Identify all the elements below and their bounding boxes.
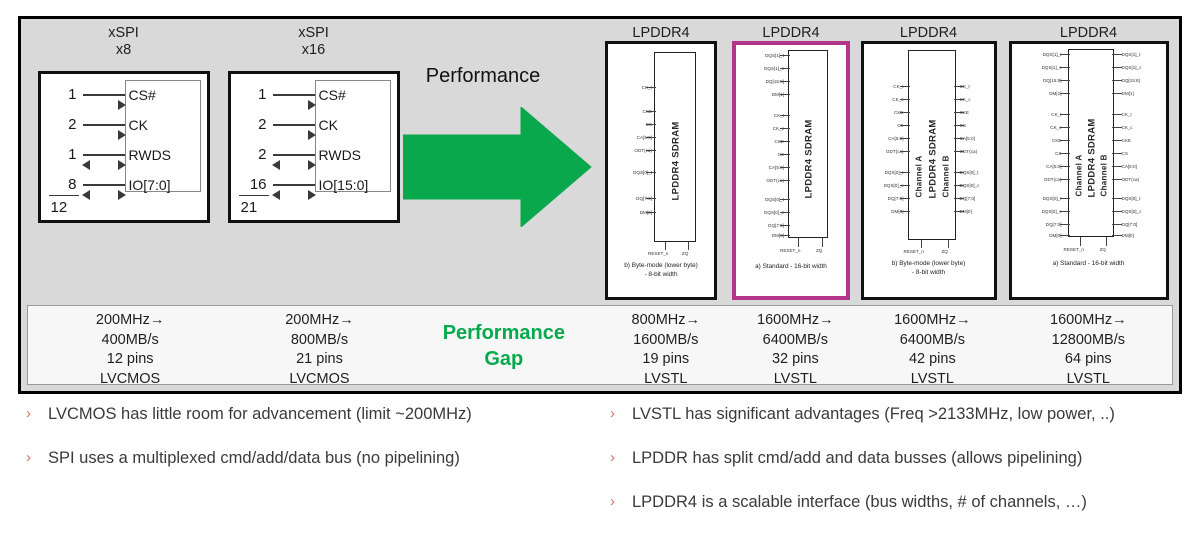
signal-name: CS# <box>129 82 156 108</box>
total-pin-count: 21 <box>241 199 258 216</box>
pin-line <box>822 238 823 247</box>
column-lpddr4-1ch-x16-diff: LPDDR4 1Ch, x16, Diff LPDDR4 SDRAM DQS[1… <box>726 19 856 306</box>
pin-line <box>1112 153 1122 154</box>
pin-count: 1 <box>241 82 267 108</box>
pin-label: DQS[1]_t <box>1122 52 1141 57</box>
pin-line <box>780 167 790 168</box>
pin-count: 1 <box>51 82 77 108</box>
signal-line <box>273 124 315 126</box>
signal-line <box>83 154 125 156</box>
pin-label: RESET_n <box>1064 247 1084 252</box>
chevron-right-icon: › <box>610 448 615 468</box>
pin-label: CK_c <box>740 126 784 131</box>
sdram-die: LPDDR4 SDRAM <box>654 52 696 242</box>
pin-label: CKE <box>1122 138 1131 143</box>
arrow-left-icon <box>82 190 90 200</box>
pin-line <box>780 115 790 116</box>
xspi-signal-row: 2 CK <box>231 112 397 138</box>
pin-label: CA[5:0] <box>1016 164 1062 169</box>
pin-line <box>780 141 790 142</box>
spec-io-standard: LVCMOS <box>232 370 406 390</box>
xspi-signal-row: 1 CS# <box>41 82 207 108</box>
pin-line <box>780 180 790 181</box>
pin-line <box>780 94 790 95</box>
pin-line <box>900 112 910 113</box>
spec-io-standard: LVCMOS <box>28 370 232 390</box>
diagram-caption-line1: a) Standard - 16-bit width <box>1012 260 1166 268</box>
diagram-caption-line1: a) Standard - 16-bit width <box>736 263 846 271</box>
pin-line <box>948 240 949 248</box>
column-title-line1: LPDDR4 <box>762 25 819 41</box>
sdram-die: Channel A LPDDR4 SDRAM Channel B <box>1068 49 1114 237</box>
pin-line <box>900 138 910 139</box>
pin-label: DQ[7:0] <box>1122 222 1138 227</box>
arrow-left-icon <box>82 160 90 170</box>
spec-pins: 12 pins <box>28 350 232 370</box>
diagram-caption-line2: - 8-bit width <box>864 269 994 277</box>
pin-line <box>1112 80 1122 81</box>
pin-line <box>1060 224 1070 225</box>
pin-line <box>900 198 910 199</box>
pin-line <box>900 172 910 173</box>
signal-name: IO[15:0] <box>319 172 369 198</box>
pin-label: CK_t <box>1016 112 1062 117</box>
signal-name: CK <box>129 112 148 138</box>
chevron-right-icon: › <box>26 404 31 424</box>
pin-label: RESET_n <box>904 249 924 254</box>
pin-line <box>780 55 790 56</box>
pin-label: CS <box>1122 151 1128 156</box>
pin-line <box>646 137 656 138</box>
spec-frequency: 200MHz→ <box>232 311 406 331</box>
pin-label: DM[1] <box>1122 91 1134 96</box>
interface-columns: xSPI x8 1 CS# 2 CK 1 RWDS <box>21 19 1179 306</box>
column-xspi-x8: xSPI x8 1 CS# 2 CK 1 RWDS <box>21 19 226 306</box>
pin-label: RESET_n <box>648 251 668 256</box>
pin-label: CK_c <box>1016 125 1062 130</box>
spec-frequency: 200MHz→ <box>28 311 232 331</box>
pin-line <box>954 185 964 186</box>
bullet-item: › LVSTL has significant advantages (Freq… <box>608 404 1188 424</box>
pin-line <box>1112 114 1122 115</box>
bullet-column-left: › LVCMOS has little room for advancement… <box>24 404 594 492</box>
pin-label: ODT(ca) <box>1122 177 1140 182</box>
column-title-line1: LPDDR4 <box>1060 25 1117 41</box>
channel-a-label: Channel A <box>915 90 924 198</box>
pin-label: DQ[15:8] <box>1122 78 1140 83</box>
signal-name: RWDS <box>129 142 172 168</box>
pin-label: CKE <box>740 139 784 144</box>
die-label: LPDDR4 SDRAM <box>804 91 815 199</box>
bullet-item: › SPI uses a multiplexed cmd/add/data bu… <box>24 448 594 468</box>
pin-label: DQS[0]_c <box>1122 209 1142 214</box>
spec-lpddr4-2ch-x8-diff: 1600MHz→ 6400MB/s 42 pins LVSTL <box>860 306 1005 384</box>
specification-strip: 200MHz→ 400MB/s 12 pins LVCMOS 200MHz→ 8… <box>27 305 1173 385</box>
signal-name: CK <box>319 112 338 138</box>
pin-label: ZQ <box>942 249 948 254</box>
pin-label: CK_c <box>868 97 904 102</box>
lpddr4-1ch-x16-diff-diagram: LPDDR4 SDRAM DQS[1]_t DQS[1]_c DQ[15:8] … <box>732 41 850 300</box>
pin-label: ZQ <box>1100 247 1106 252</box>
signal-line <box>83 94 125 96</box>
pin-line <box>1060 235 1070 236</box>
pin-line <box>1112 224 1122 225</box>
pin-line <box>900 86 910 87</box>
pin-line <box>900 151 910 152</box>
pin-line <box>1060 166 1070 167</box>
pin-line <box>1060 140 1070 141</box>
performance-gap-line1: Performance <box>407 320 601 346</box>
sdram-die: LPDDR4 SDRAM <box>788 50 828 238</box>
chevron-right-icon: › <box>610 404 615 424</box>
spec-pins: 64 pins <box>1005 350 1172 370</box>
channel-b-label: Channel B <box>941 90 950 198</box>
pin-label: DQS[0]_c <box>740 210 784 215</box>
pin-line <box>1112 93 1122 94</box>
performance-arrow-label: Performance <box>409 65 557 88</box>
spec-bandwidth: 6400MB/s <box>860 331 1005 351</box>
pin-label: DQ[7:0] <box>866 196 904 201</box>
pin-line <box>954 138 964 139</box>
pin-line <box>900 99 910 100</box>
column-performance-arrow: Performance <box>401 19 596 306</box>
pin-line <box>780 235 790 236</box>
bullet-item: › LVCMOS has little room for advancement… <box>24 404 594 424</box>
signal-line <box>83 184 125 186</box>
pin-label: CS <box>868 123 904 128</box>
xspi-signal-row: 1 RWDS <box>41 142 207 168</box>
diagram-caption-line2: - 8-bit width <box>608 271 714 279</box>
pin-line <box>646 150 656 151</box>
spec-pins: 21 pins <box>232 350 406 370</box>
spec-xspi-x8: 200MHz→ 400MB/s 12 pins LVCMOS <box>28 306 232 384</box>
pin-line <box>1112 198 1122 199</box>
pin-label: DQ[15:8] <box>1016 78 1062 83</box>
pin-line <box>1060 198 1070 199</box>
pin-line <box>780 128 790 129</box>
pin-line <box>1060 179 1070 180</box>
pin-line <box>1112 67 1122 68</box>
signal-line <box>273 94 315 96</box>
signal-name: RWDS <box>319 142 362 168</box>
pin-line <box>646 198 656 199</box>
arrow-left-icon <box>272 160 280 170</box>
total-rule <box>239 195 269 197</box>
pin-label: DQ[7:0] <box>740 223 784 228</box>
die-label: LPDDR4 SDRAM <box>671 93 682 201</box>
pin-line <box>1060 67 1070 68</box>
pin-label: ODT(ca) <box>1016 177 1062 182</box>
spec-io-standard: LVSTL <box>1005 370 1172 390</box>
pin-line <box>954 211 964 212</box>
arrow-right-icon <box>308 100 316 110</box>
arrow-right-icon <box>308 160 316 170</box>
column-lpddr4-1ch-x8-se: LPDDR4 1Ch, x8, SE LPDDR4 SDRAM CK_t CKE… <box>596 19 726 306</box>
pin-line <box>900 211 910 212</box>
pin-label: DQS[1]_c <box>1122 65 1142 70</box>
pin-label: DQS[0]_t <box>1122 196 1141 201</box>
spec-io-standard: LVSTL <box>601 370 731 390</box>
pin-label: DQS[1]_c <box>740 66 784 71</box>
pin-count: 2 <box>51 112 77 138</box>
pin-label: DQS[1]_c <box>1016 65 1062 70</box>
column-title-line1: xSPI <box>108 25 139 41</box>
xspi-signal-row: 2 CK <box>41 112 207 138</box>
channel-b-label: Channel B <box>1100 89 1109 197</box>
pin-line <box>780 68 790 69</box>
pin-count: 2 <box>241 142 267 168</box>
pin-label: DM[0] <box>1122 233 1134 238</box>
column-title-line1: xSPI <box>298 25 329 41</box>
pin-label: ODT(ca) <box>866 149 904 154</box>
column-title-xspi-x8: xSPI x8 <box>21 19 226 59</box>
spec-bandwidth: 1600MB/s <box>601 331 731 351</box>
bullet-text: LPDDR has split cmd/add and data busses … <box>632 449 1082 467</box>
spec-io-standard: LVSTL <box>731 370 861 390</box>
pin-line <box>1112 235 1122 236</box>
pin-count: 1 <box>51 142 77 168</box>
spec-io-standard: LVSTL <box>860 370 1005 390</box>
pin-label: CK_c <box>1122 125 1133 130</box>
pin-line <box>954 99 964 100</box>
pin-line <box>1080 237 1081 246</box>
pin-count: 2 <box>241 112 267 138</box>
spec-bandwidth: 12800MB/s <box>1005 331 1172 351</box>
signal-line <box>273 184 315 186</box>
performance-gap-label: Performance Gap <box>407 306 601 384</box>
performance-arrow-icon <box>403 107 593 227</box>
arrow-right-icon <box>308 130 316 140</box>
spec-pins: 19 pins <box>601 350 731 370</box>
pin-label: CA[5:0] <box>1122 164 1137 169</box>
arrow-right-icon <box>118 100 126 110</box>
pin-line <box>1112 211 1122 212</box>
pin-line <box>1106 237 1107 246</box>
pin-line <box>646 172 656 173</box>
sdram-die: Channel A LPDDR4 SDRAM Channel B <box>908 50 956 240</box>
pin-label: DM[1] <box>1016 91 1062 96</box>
pin-line <box>1060 127 1070 128</box>
pin-line <box>780 199 790 200</box>
pin-label: ODT(ca) <box>740 178 784 183</box>
pin-line <box>1112 127 1122 128</box>
signal-name: CS# <box>319 82 346 108</box>
arrow-right-icon <box>308 190 316 200</box>
pin-line <box>954 172 964 173</box>
bullet-text: SPI uses a multiplexed cmd/add/data bus … <box>48 449 460 467</box>
spec-lpddr4-2ch-x16-diff: 1600MHz→ 12800MB/s 64 pins LVSTL <box>1005 306 1172 384</box>
pin-line <box>1060 93 1070 94</box>
lpddr4-1ch-x8-se-diagram: LPDDR4 SDRAM CK_t CKE CS CA[5:0] ODT(ca)… <box>605 41 717 300</box>
pin-label: DQS[0]_t <box>740 197 784 202</box>
arrow-right-icon <box>118 130 126 140</box>
pin-line <box>1060 54 1070 55</box>
lpddr4-2ch-x16-diff-diagram: Channel A LPDDR4 SDRAM Channel B DQS[1]_… <box>1009 41 1169 300</box>
column-title-line1: LPDDR4 <box>632 25 689 41</box>
pin-line <box>900 185 910 186</box>
column-lpddr4-2ch-x16-diff: LPDDR4 2Ch, x16, Diff Channel A LPDDR4 S… <box>1001 19 1176 306</box>
pin-line <box>798 238 799 247</box>
pin-label: DQ[15:8] <box>740 79 784 84</box>
bullet-column-right: › LVSTL has significant advantages (Freq… <box>608 404 1188 536</box>
pin-label: ZQ <box>682 251 688 256</box>
pin-line <box>1112 166 1122 167</box>
pin-label: RESET_n <box>780 248 800 253</box>
xspi-x16-diagram: 1 CS# 2 CK 2 RWDS 16 IO[15:0] <box>228 71 400 223</box>
total-rule <box>49 195 79 197</box>
bullet-text: LVSTL has significant advantages (Freq >… <box>632 405 1115 423</box>
spec-pins: 42 pins <box>860 350 1005 370</box>
column-title-line2: x8 <box>21 42 226 59</box>
die-label: LPDDR4 SDRAM <box>1086 90 1097 198</box>
signal-line <box>83 124 125 126</box>
pin-label: CKE <box>868 110 904 115</box>
spec-lpddr4-1ch-x16-diff: 1600MHz→ 6400MB/s 32 pins LVSTL <box>731 306 861 384</box>
spec-xspi-x16: 200MHz→ 800MB/s 21 pins LVCMOS <box>232 306 406 384</box>
pin-label: DM[1] <box>740 92 784 97</box>
pin-label: DM[0] <box>866 209 904 214</box>
column-title-xspi-x16: xSPI x16 <box>226 19 401 59</box>
chevron-right-icon: › <box>610 492 615 512</box>
bullet-text: LPDDR4 is a scalable interface (bus widt… <box>632 493 1087 511</box>
channel-a-label: Channel A <box>1074 89 1083 197</box>
column-title-line2: x16 <box>226 42 401 59</box>
spec-pins: 32 pins <box>731 350 861 370</box>
spec-bandwidth: 800MB/s <box>232 331 406 351</box>
pin-label: DQ[7:0] <box>1016 222 1062 227</box>
diagram-caption-line1: b) Byte-mode (lower byte) <box>608 262 714 270</box>
xspi-x8-diagram: 1 CS# 2 CK 1 RWDS 8 IO[7:0] <box>38 71 210 223</box>
pin-label: ZQ <box>816 248 822 253</box>
pin-label: DQS[1]_t <box>740 53 784 58</box>
pin-line <box>1112 179 1122 180</box>
pin-line <box>954 151 964 152</box>
pin-line <box>1060 80 1070 81</box>
pin-label: CKE <box>1016 138 1062 143</box>
column-lpddr4-2ch-x8-diff: LPDDR4 2Ch, x8, Diff Channel A LPDDR4 SD… <box>856 19 1001 306</box>
spec-lpddr4-1ch-x8-se: 800MHz→ 1600MB/s 19 pins LVSTL <box>601 306 731 384</box>
arrow-right-icon <box>118 160 126 170</box>
pin-line <box>954 198 964 199</box>
xspi-signal-row: 1 CS# <box>231 82 397 108</box>
pin-label: CS <box>740 152 784 157</box>
pin-line <box>780 225 790 226</box>
comparison-panel: xSPI x8 1 CS# 2 CK 1 RWDS <box>18 16 1182 394</box>
pin-line <box>688 242 689 250</box>
column-title-line1: LPDDR4 <box>900 25 957 41</box>
pin-line <box>954 86 964 87</box>
pin-label: DM[0] <box>1016 233 1062 238</box>
performance-gap-line2: Gap <box>407 346 601 372</box>
spec-frequency: 800MHz→ <box>601 311 731 331</box>
pin-label: DQS[1]_t <box>1016 52 1062 57</box>
pin-label: CS <box>1016 151 1062 156</box>
pin-line <box>780 154 790 155</box>
xspi-signal-row: 2 RWDS <box>231 142 397 168</box>
bullet-text: LVCMOS has little room for advancement (… <box>48 405 472 423</box>
pin-line <box>646 212 656 213</box>
pin-line <box>780 212 790 213</box>
pin-line <box>1060 114 1070 115</box>
pin-line <box>780 81 790 82</box>
spec-bandwidth: 6400MB/s <box>731 331 861 351</box>
signal-name: IO[7:0] <box>129 172 171 198</box>
takeaway-bullets: › LVCMOS has little room for advancement… <box>0 404 1200 529</box>
pin-line <box>900 125 910 126</box>
pin-label: CA[5:0] <box>866 136 904 141</box>
spec-bandwidth: 400MB/s <box>28 331 232 351</box>
total-pin-count: 12 <box>51 199 68 216</box>
pin-label: CK_t <box>868 84 904 89</box>
pin-line <box>954 112 964 113</box>
pin-label: DQS[0]_c <box>1016 209 1062 214</box>
bullet-item: › LPDDR has split cmd/add and data busse… <box>608 448 1188 468</box>
lpddr4-2ch-x8-diff-diagram: Channel A LPDDR4 SDRAM Channel B CK_t CK… <box>861 41 997 300</box>
spec-frequency: 1600MHz→ <box>1005 311 1172 331</box>
pin-label: DQS[0]_t <box>864 170 904 175</box>
chevron-right-icon: › <box>26 448 31 468</box>
pin-label: DQS[0]_c <box>864 183 904 188</box>
pin-label: DQS[0]_t <box>1016 196 1062 201</box>
pin-line <box>646 124 656 125</box>
pin-label: DM[0] <box>740 233 784 238</box>
spec-frequency: 1600MHz→ <box>860 311 1005 331</box>
pin-label: CA[5:0] <box>740 165 784 170</box>
arrow-right-icon <box>118 190 126 200</box>
pin-line <box>954 125 964 126</box>
pin-label: CK_t <box>1122 112 1132 117</box>
pin-line <box>1060 153 1070 154</box>
pin-label: CK_t <box>740 113 784 118</box>
pin-line <box>665 242 666 250</box>
pin-line <box>646 111 656 112</box>
pin-line <box>1060 211 1070 212</box>
pin-line <box>1112 140 1122 141</box>
bullet-item: › LPDDR4 is a scalable interface (bus wi… <box>608 492 1188 512</box>
die-label: LPDDR4 SDRAM <box>927 91 938 199</box>
column-xspi-x16: xSPI x16 1 CS# 2 CK 2 RWDS <box>226 19 401 306</box>
pin-line <box>1112 54 1122 55</box>
signal-line <box>273 154 315 156</box>
pin-line <box>921 240 922 248</box>
arrow-left-icon <box>272 190 280 200</box>
diagram-caption-line1: b) Byte-mode (lower byte) <box>864 260 994 268</box>
spec-frequency: 1600MHz→ <box>731 311 861 331</box>
pin-line <box>646 87 656 88</box>
